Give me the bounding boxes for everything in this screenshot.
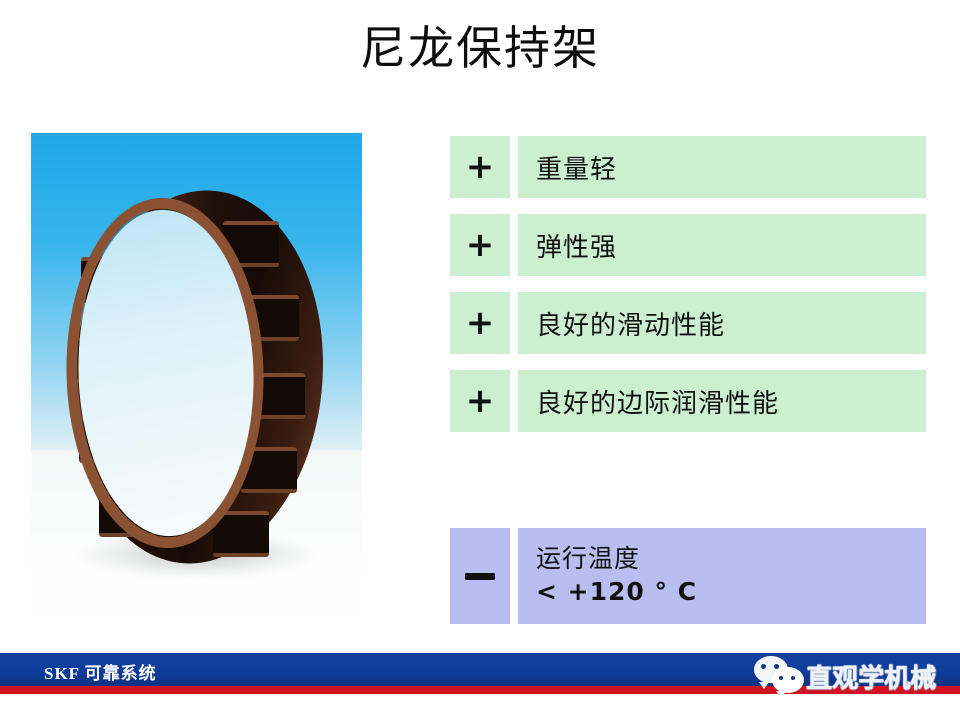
plus-icon: + [450,214,510,276]
page-title: 尼龙保持架 [0,22,960,75]
product-photo [31,133,362,628]
wechat-icon [752,656,808,694]
plus-icon: + [450,136,510,198]
wechat-eye [761,664,766,669]
wechat-bubble-front [772,667,804,693]
feature-row: + 良好的边际润滑性能 [450,370,926,432]
feature-list: + 重量轻 + 弹性强 + 良好的滑动性能 + 良好的边际润滑性能 [450,136,926,448]
bearing-cage-illustration [73,191,323,563]
feature-label: 良好的滑动性能 [518,292,926,354]
feature-row: + 弹性强 [450,214,926,276]
feature-label: 重量轻 [518,136,926,198]
feature-row: + 重量轻 [450,136,926,198]
feature-row: + 良好的滑动性能 [450,292,926,354]
slide-root: 尼龙保持架 + 重量轻 + 弹性强 + [0,0,960,720]
wechat-eye [791,676,795,680]
minus-icon [450,528,510,624]
plus-icon: + [450,370,510,432]
plus-icon: + [450,292,510,354]
watermark-text: 直观学机械 [806,658,936,695]
footer-brand-label: SKF 可靠系统 [44,659,157,684]
limitation-row: 运行温度 < +120 ° C [450,528,926,624]
wechat-eye [774,664,779,669]
minus-bar [465,573,495,580]
limitation-value: < +120 ° C [536,576,926,609]
limitation-text: 运行温度 < +120 ° C [518,528,926,624]
wechat-eye [779,676,783,680]
feature-label: 良好的边际润滑性能 [518,370,926,432]
feature-label: 弹性强 [518,214,926,276]
watermark: 直观学机械 [752,652,960,698]
limitation-label: 运行温度 [536,543,926,574]
